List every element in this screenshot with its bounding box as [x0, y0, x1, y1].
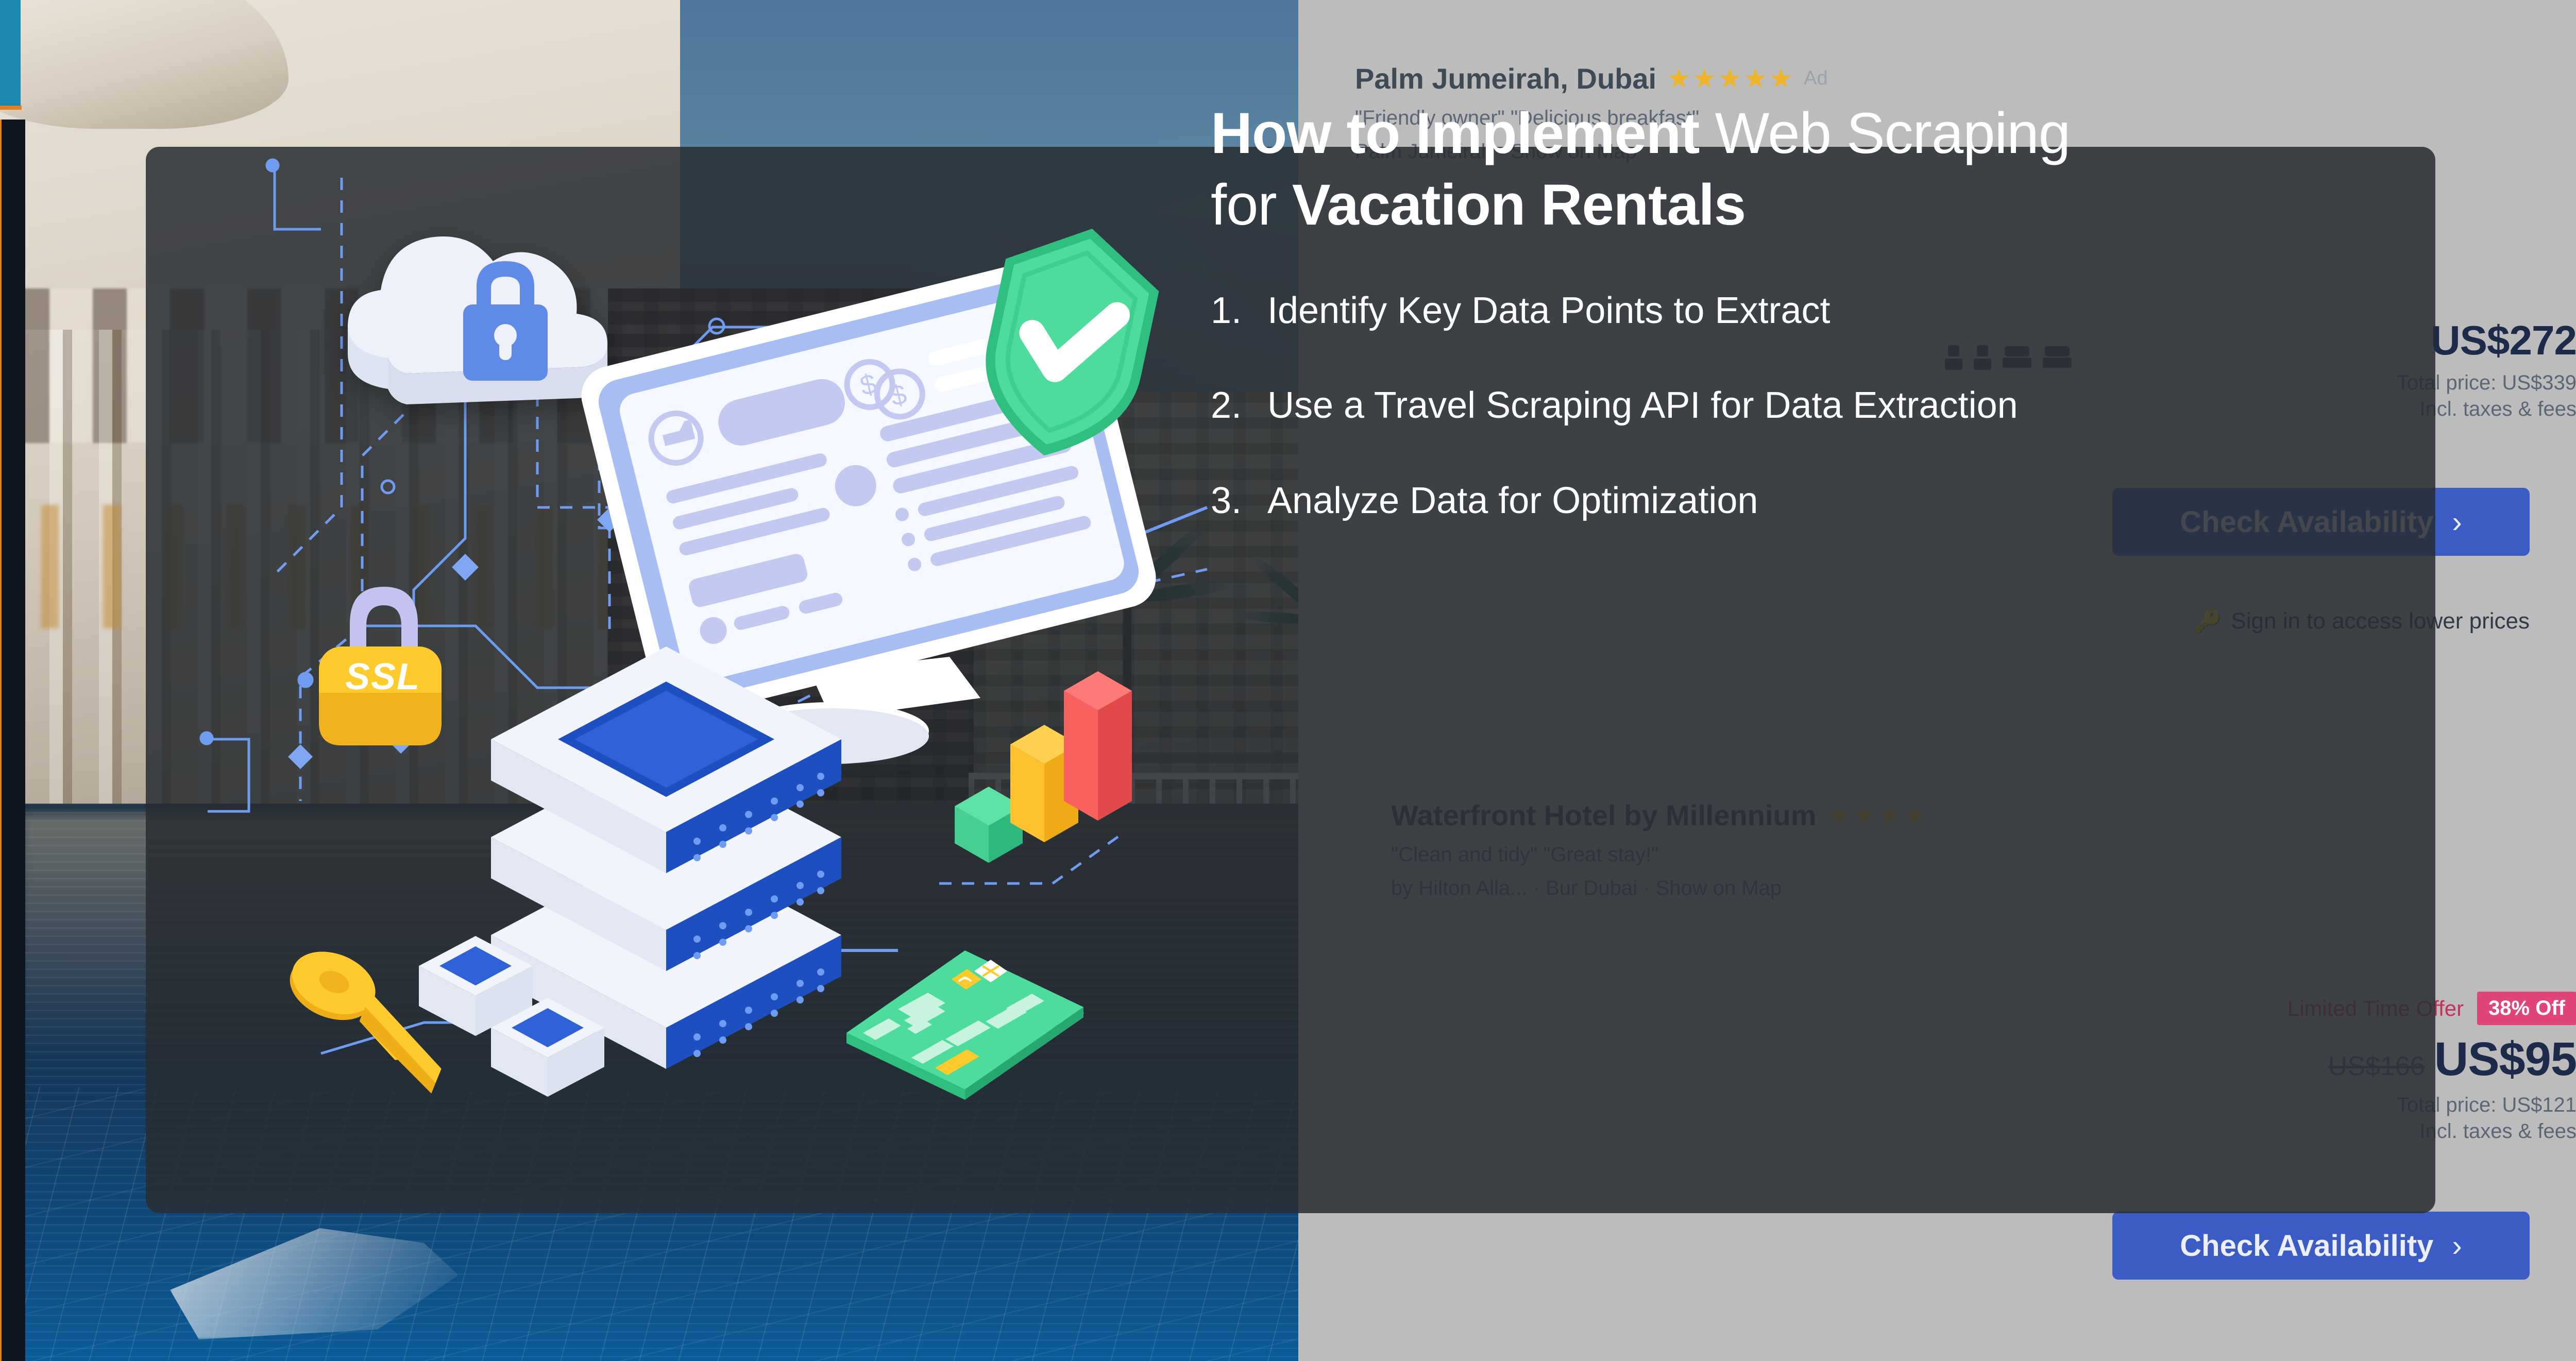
screenshot-root: Palm Jumeirah, Dubai ★★★★★ Ad "Friendly … [0, 0, 2576, 1361]
left-orange-divider [0, 106, 22, 110]
overlay-step-3: 3. Analyze Data for Optimization [1211, 479, 2267, 523]
chevron-right-icon: › [2452, 1229, 2462, 1263]
isometric-illustration: $ $ [146, 147, 1238, 1213]
left-dark-sidebar-strip [2, 120, 25, 1361]
bar-chart-icon [944, 657, 1150, 863]
discount-badge: 38% Off [2477, 992, 2576, 1025]
step-number: 3. [1211, 479, 1241, 523]
credit-card-icon [836, 930, 1094, 1105]
overlay-title: How to Implement Web Scraping for Vacati… [1211, 98, 2267, 241]
step-label: Use a Travel Scraping API for Data Extra… [1267, 383, 2018, 428]
chevron-right-icon: › [2452, 505, 2462, 539]
cta-label: Check Availability [2180, 1229, 2433, 1263]
listing-2-check-availability-button[interactable]: Check Availability › [2112, 1212, 2530, 1280]
listing-2-price: US$95 [2434, 1032, 2576, 1086]
step-label: Identify Key Data Points to Extract [1267, 288, 1831, 333]
overlay-title-light-1: Web Scraping [1699, 101, 2070, 165]
overlay-steps-list: 1. Identify Key Data Points to Extract 2… [1211, 288, 2267, 523]
shield-check-icon [960, 214, 1176, 471]
left-teal-strip [0, 0, 21, 109]
building-dome [0, 0, 289, 129]
listing-1-ad-label: Ad [1804, 67, 1827, 90]
overlay-text-column: How to Implement Web Scraping for Vacati… [1211, 98, 2267, 573]
overlay-title-bold-1: How to Implement [1211, 101, 1699, 165]
ssl-padlock-icon: SSL [306, 569, 460, 755]
step-number: 1. [1211, 288, 1241, 333]
step-label: Analyze Data for Optimization [1267, 479, 1758, 523]
server-stack-icon [481, 574, 862, 1069]
overlay-title-light-2: for [1211, 173, 1292, 237]
ssl-label: SSL [306, 656, 460, 698]
listing-1-title: Palm Jumeirah, Dubai [1355, 62, 1656, 95]
overlay-step-1: 1. Identify Key Data Points to Extract [1211, 288, 2267, 333]
step-number: 2. [1211, 383, 1241, 428]
overlay-step-2: 2. Use a Travel Scraping API for Data Ex… [1211, 383, 2267, 428]
listing-1-stars: ★★★★★ [1667, 63, 1794, 94]
overlay-title-bold-2: Vacation Rentals [1292, 173, 1745, 237]
